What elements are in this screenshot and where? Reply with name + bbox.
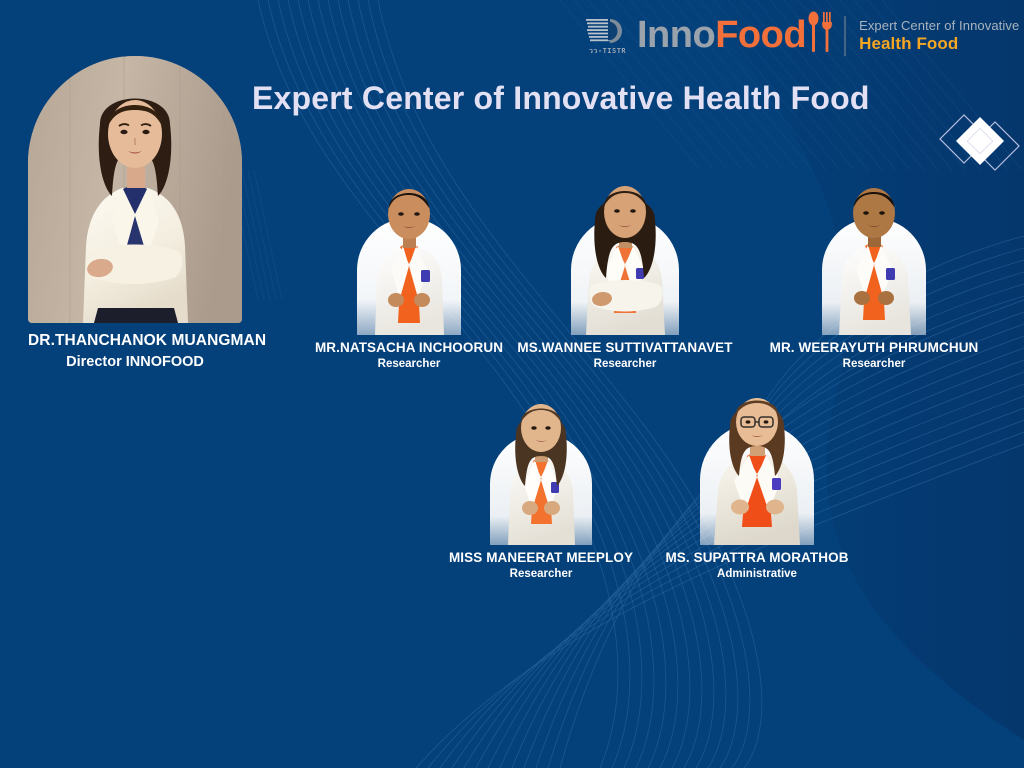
staff-card: MS.WANNEE SUTTIVATTANAVET Researcher [516, 168, 734, 370]
tistr-caption: วว-TISTR [589, 46, 626, 57]
staff-caption: MS. SUPATTRA MORATHOB Administrative [648, 550, 866, 580]
staff-photo [300, 170, 518, 340]
staff-card: MISS MANEERAT MEEPLOY Researcher [432, 388, 650, 580]
logo-tagline: Expert Center of Innovative Health Food [859, 19, 1019, 53]
innofood-logo: วว-TISTR InnoFood Expert Center of Innov… [586, 12, 1019, 60]
staff-role: Researcher [300, 358, 518, 370]
tistr-logo-icon: วว-TISTR [586, 16, 632, 56]
page-title: Expert Center of Innovative Health Food [252, 80, 870, 117]
staff-name: MS. SUPATTRA MORATHOB [648, 550, 866, 565]
staff-role: Researcher [765, 358, 983, 370]
staff-caption: MR. WEERAYUTH PHRUMCHUN Researcher [765, 340, 983, 370]
director-caption: DR.THANCHANOK MUANGMAN Director INNOFOOD [28, 332, 242, 370]
staff-name: MR.NATSACHA INCHOORUN [300, 340, 518, 355]
staff-name: MS.WANNEE SUTTIVATTANAVET [516, 340, 734, 355]
staff-role: Researcher [432, 568, 650, 580]
logo-divider [844, 16, 846, 56]
tagline-line-1: Expert Center of Innovative [859, 19, 1019, 34]
director-name: DR.THANCHANOK MUANGMAN [28, 332, 242, 350]
staff-photo [516, 168, 734, 340]
staff-name: MISS MANEERAT MEEPLOY [432, 550, 650, 565]
staff-name: MR. WEERAYUTH PHRUMCHUN [765, 340, 983, 355]
staff-photo [432, 388, 650, 550]
staff-caption: MS.WANNEE SUTTIVATTANAVET Researcher [516, 340, 734, 370]
logo-word-inno: Inno [637, 14, 715, 56]
staff-card: MR. WEERAYUTH PHRUMCHUN Researcher [765, 170, 983, 370]
tagline-line-2: Health Food [859, 34, 1019, 53]
staff-role: Administrative [648, 568, 866, 580]
staff-caption: MISS MANEERAT MEEPLOY Researcher [432, 550, 650, 580]
staff-card: MR.NATSACHA INCHOORUN Researcher [300, 170, 518, 370]
director-photo [28, 56, 242, 323]
staff-role: Researcher [516, 358, 734, 370]
spoon-fork-icon [807, 11, 833, 58]
staff-caption: MR.NATSACHA INCHOORUN Researcher [300, 340, 518, 370]
staff-card: MS. SUPATTRA MORATHOB Administrative [648, 382, 866, 580]
director-card: DR.THANCHANOK MUANGMAN Director INNOFOOD [28, 56, 242, 370]
innofood-wordmark: InnoFood [637, 16, 806, 54]
logo-word-food: Food [715, 14, 806, 56]
staff-photo [765, 170, 983, 340]
staff-photo [648, 382, 866, 550]
director-role: Director INNOFOOD [28, 354, 242, 370]
